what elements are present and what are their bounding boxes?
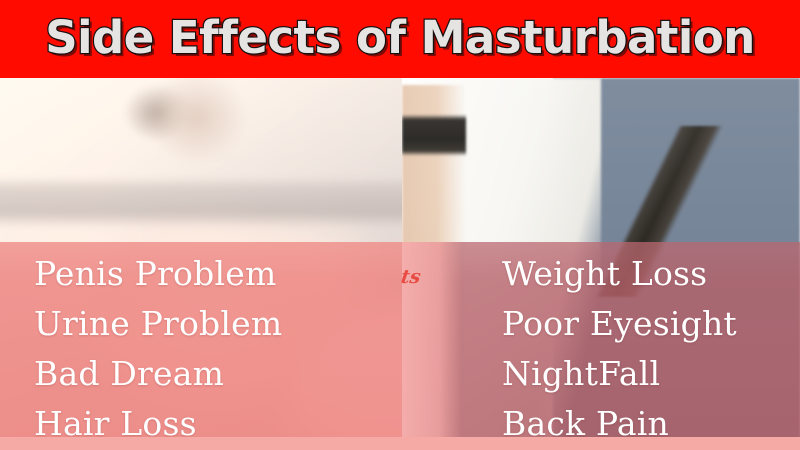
list-item: Poor Eyesight: [502, 299, 737, 349]
list-item: Penis Problem: [34, 249, 282, 299]
title-banner: Side Effects of Masturbation: [0, 0, 800, 78]
left-effects-list: Penis Problem Urine Problem Bad Dream Ha…: [34, 249, 282, 449]
list-item: Bad Dream: [34, 349, 282, 399]
poster-image: ts Side Effects of Masturbation Penis Pr…: [0, 0, 800, 450]
list-item: Urine Problem: [34, 299, 282, 349]
list-item: Weight Loss: [502, 249, 737, 299]
page-title: Side Effects of Masturbation: [0, 12, 800, 64]
watermark-text: ts: [400, 268, 422, 287]
right-effects-list: Weight Loss Poor Eyesight NightFall Back…: [502, 249, 737, 449]
list-item: NightFall: [502, 349, 737, 399]
footer-strip: [0, 437, 800, 450]
